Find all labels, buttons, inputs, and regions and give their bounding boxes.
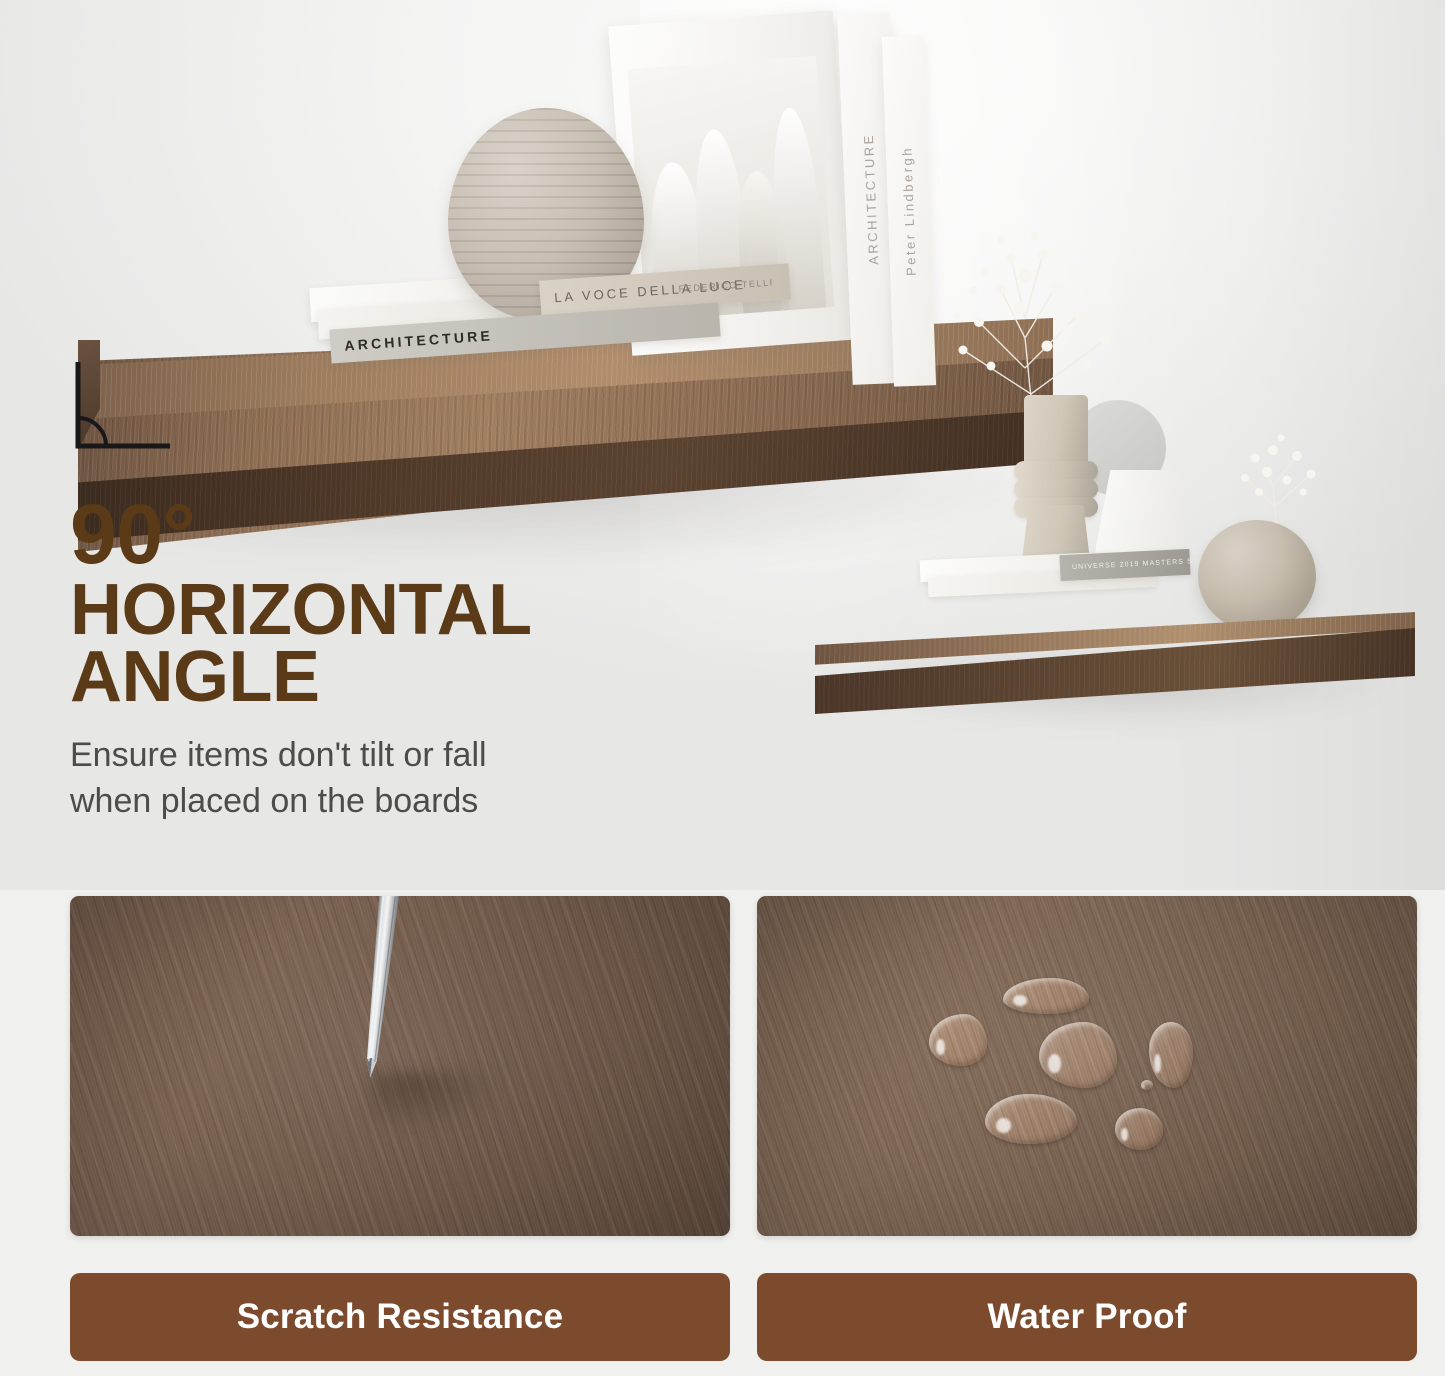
feature-panel-water-proof: Water Proof (757, 896, 1417, 1361)
heading-line-horizontal: HORIZONTAL (70, 577, 730, 644)
book-title-architecture: ARCHITECTURE (344, 327, 494, 353)
water-droplet (985, 1094, 1077, 1144)
heading-subtext: Ensure items don't tilt or fall when pla… (70, 733, 730, 824)
screwdriver-contact-shadow (370, 1072, 500, 1132)
vase-neck (1024, 395, 1088, 467)
vase-ring-2 (1014, 479, 1098, 499)
hero-feature-section: ARCHITECTURE Peter Lindbergh LA VOCE DEL… (0, 0, 1445, 890)
water-droplet (1115, 1108, 1163, 1150)
book-spine-lindbergh-label: Peter Lindbergh (899, 146, 919, 276)
headline-block: 90° HORIZONTAL ANGLE Ensure items don't … (70, 495, 730, 824)
heading-degree: 90° (70, 495, 730, 573)
book-spine-architecture-label: ARCHITECTURE (861, 133, 882, 265)
vase-ring-1 (1014, 461, 1098, 481)
heading-line-angle: ANGLE (70, 644, 730, 711)
right-angle-indicator-icon (72, 360, 182, 455)
ribbed-pedestal-vase (1010, 395, 1102, 577)
caption-water-proof: Water Proof (757, 1273, 1417, 1361)
heading-subtext-line-2: when placed on the boards (70, 779, 730, 825)
screwdriver-on-wood-surface (70, 896, 730, 1236)
water-droplets-on-wood-surface (757, 896, 1417, 1236)
feature-panel-scratch-resistance: Scratch Resistance (70, 896, 730, 1361)
water-droplet-tiny (1141, 1080, 1153, 1090)
lower-book-spine-label: UNIVERSE 2019 MASTERS SOUL (1072, 557, 1211, 571)
lower-floating-shelf (815, 600, 1415, 730)
caption-scratch-resistance: Scratch Resistance (70, 1273, 730, 1361)
heading-subtext-line-1: Ensure items don't tilt or fall (70, 733, 730, 779)
